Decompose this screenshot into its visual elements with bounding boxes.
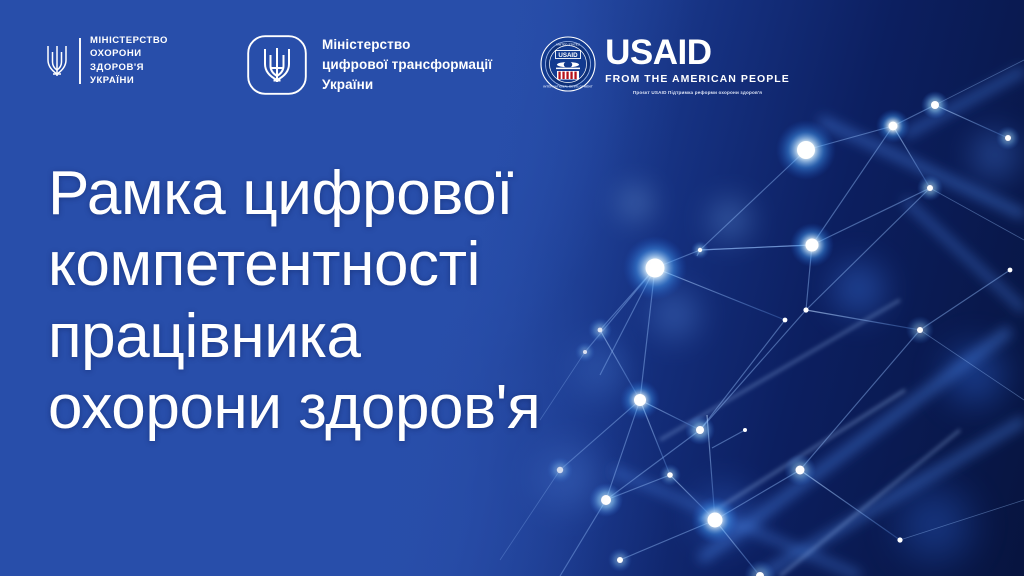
logo-ministry-of-health-label: МІНІСТЕРСТВО ОХОРОНИ ЗДОРОВ'Я УКРАЇНИ — [90, 34, 168, 88]
moh-line-3: ЗДОРОВ'Я — [90, 61, 168, 74]
bokeh-blob — [880, 470, 990, 576]
ukraine-trident-emblem-icon — [44, 40, 70, 82]
presentation-slide: МІНІСТЕРСТВО ОХОРОНИ ЗДОРОВ'Я УКРАЇНИ — [0, 0, 1024, 576]
svg-text:INTERNATIONAL DEVELOPMENT: INTERNATIONAL DEVELOPMENT — [543, 85, 592, 89]
bokeh-blob — [930, 330, 1020, 420]
bokeh-blob — [680, 470, 770, 560]
bokeh-blob — [612, 180, 658, 226]
usaid-wordmark-group: USAID FROM THE AMERICAN PEOPLE Проєкт US… — [605, 36, 790, 95]
bokeh-blob — [640, 280, 710, 350]
svg-text:USAID: USAID — [559, 52, 579, 59]
moh-line-1: МІНІСТЕРСТВО — [90, 34, 168, 47]
logo-ministry-of-health: МІНІСТЕРСТВО ОХОРОНИ ЗДОРОВ'Я УКРАЇНИ — [44, 34, 168, 88]
svg-text:UNITED STATES: UNITED STATES — [556, 42, 580, 46]
bokeh-blob — [960, 120, 1024, 190]
bokeh-blob — [820, 250, 898, 328]
moh-line-2: ОХОРОНИ — [90, 47, 168, 60]
usaid-tagline: FROM THE AMERICAN PEOPLE — [605, 73, 790, 85]
usaid-seal-icon: UNITED STATES INTERNATIONAL DEVELOPMENT … — [540, 36, 596, 92]
moh-line-4: УКРАЇНИ — [90, 74, 168, 87]
page-title: Рамка цифрової компетентності працівника… — [48, 158, 540, 443]
bokeh-blob — [560, 330, 640, 410]
ukraine-trident-badge-icon — [246, 34, 308, 96]
logo-divider — [79, 38, 81, 84]
usaid-project-note: Проєкт USAID Підтримка реформи охорони з… — [605, 90, 790, 95]
bokeh-blob — [700, 190, 760, 250]
bokeh-blob — [520, 430, 615, 525]
usaid-wordmark: USAID — [605, 35, 790, 70]
logo-ministry-digital-transformation: Міністерство цифрової трансформації Укра… — [246, 34, 492, 96]
mdt-line-3: України — [322, 75, 492, 95]
mdt-line-2: цифрової трансформації — [322, 55, 492, 75]
logo-bar: МІНІСТЕРСТВО ОХОРОНИ ЗДОРОВ'Я УКРАЇНИ — [44, 34, 790, 96]
logo-usaid: UNITED STATES INTERNATIONAL DEVELOPMENT … — [540, 34, 790, 95]
mdt-line-1: Міністерство — [322, 35, 492, 55]
logo-mdt-label: Міністерство цифрової трансформації Укра… — [322, 35, 492, 96]
